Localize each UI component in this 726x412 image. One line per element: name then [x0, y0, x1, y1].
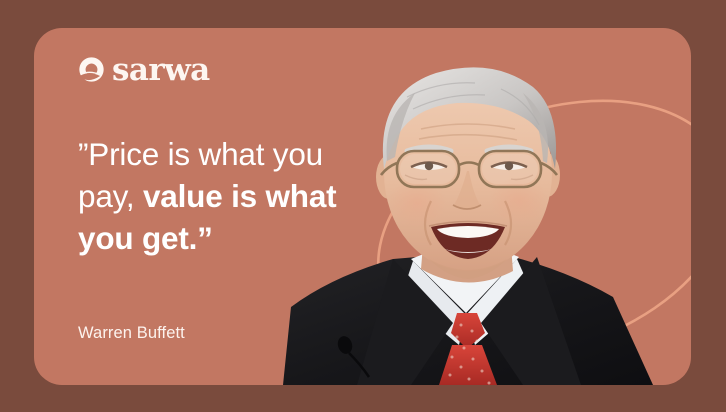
quote-attribution: Warren Buffett: [78, 324, 185, 343]
quote-card: sarwa ”Price is what you pay, value is w…: [34, 28, 691, 385]
quote-open-mark: ”: [78, 136, 88, 172]
sarwa-logo[interactable]: sarwa: [78, 54, 210, 85]
sarwa-wordmark: sarwa: [112, 55, 210, 86]
quote-text: ”Price is what you pay, value is what yo…: [78, 133, 378, 259]
quote-close-mark: ”: [197, 220, 213, 256]
sarwa-circle-mark-icon: [78, 56, 105, 83]
